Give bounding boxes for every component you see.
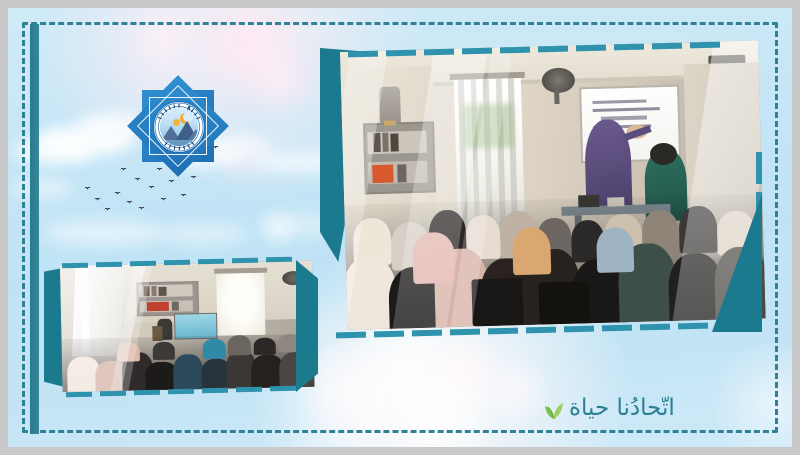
tagline-text: اتّحادُنا حياة [569,395,675,421]
photo1-image [340,40,766,330]
secondary-classroom-photo [44,260,314,398]
poster-root: اتّحادُنا حياة [0,0,800,455]
leaf-icon [543,396,565,420]
emblem-medallion [153,101,205,153]
organization-emblem [132,80,224,172]
left-accent-bar [30,24,39,434]
sky-background-panel: اتّحادُنا حياة [8,8,792,447]
emblem-ring-text [154,102,204,152]
photo2-image [60,261,315,392]
tagline: اتّحادُنا حياة [543,386,723,430]
main-classroom-photo [314,42,764,338]
